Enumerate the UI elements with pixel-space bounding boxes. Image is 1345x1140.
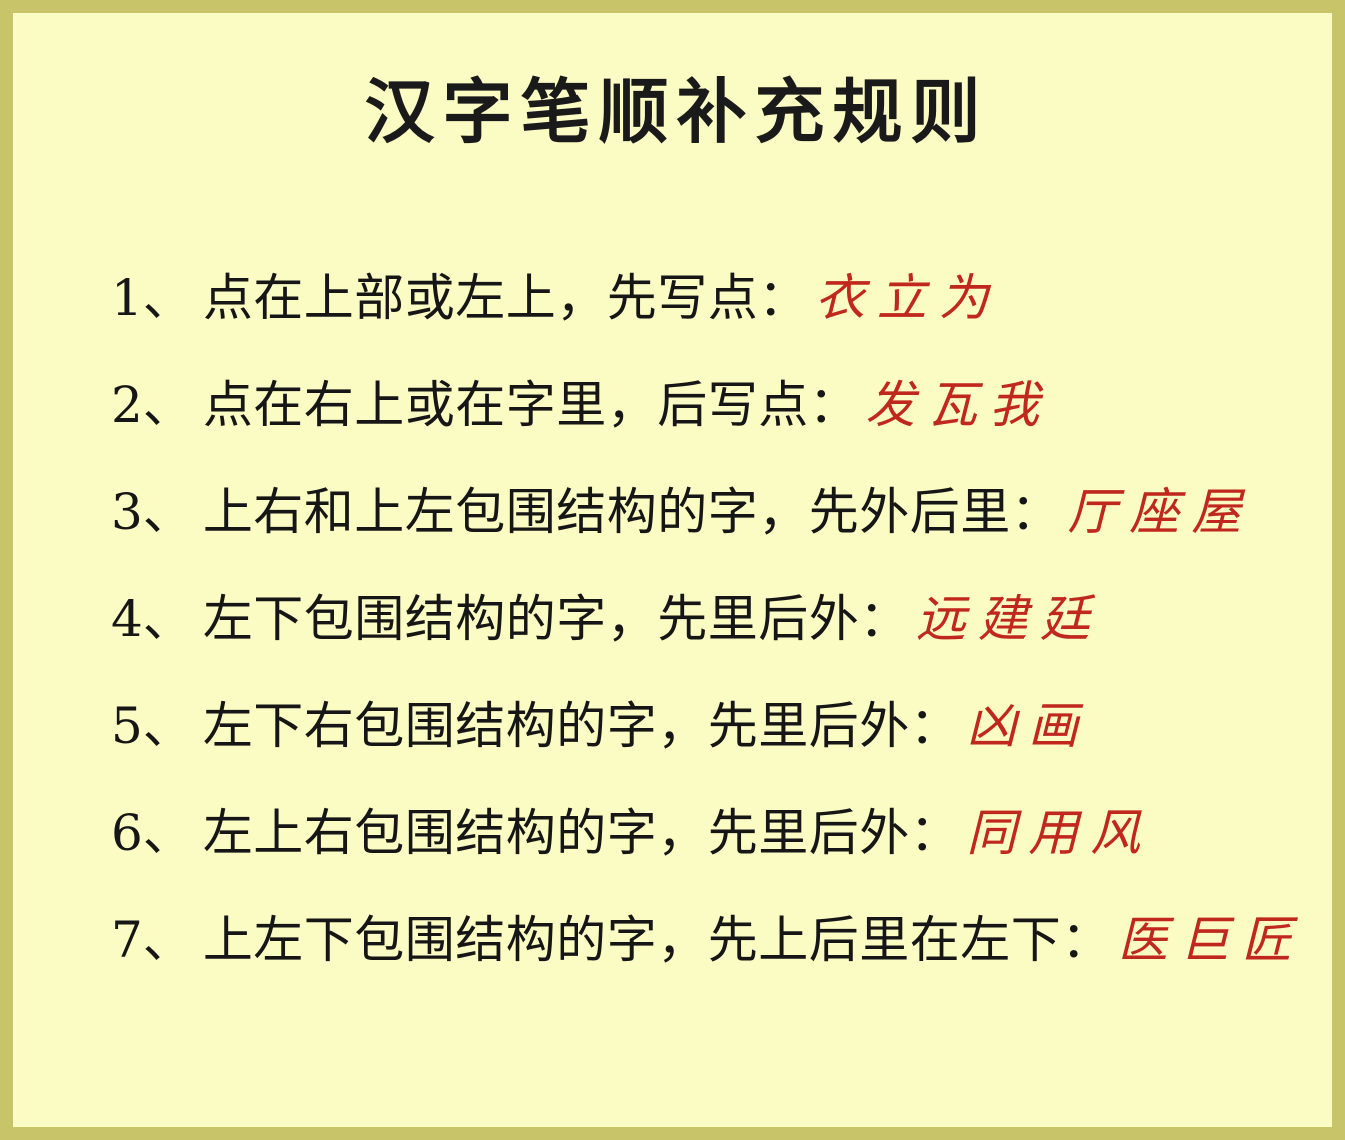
rule-index: 4、 bbox=[111, 566, 203, 673]
rule-text: 左上右包围结构的字，先里后外： bbox=[203, 780, 961, 887]
poster-frame: 汉字笔顺补充规则 1、 点在上部或左上，先写点： 衣立为 2、 点在右上或在字里… bbox=[0, 0, 1345, 1140]
list-item: 5、 左下右包围结构的字，先里后外： 凶画 bbox=[111, 673, 1302, 780]
rule-text: 上左下包围结构的字，先上后里在左下： bbox=[203, 887, 1112, 994]
rule-examples: 远建廷 bbox=[910, 566, 1102, 673]
list-item: 1、 点在上部或左上，先写点： 衣立为 bbox=[111, 245, 1302, 352]
rule-index: 1、 bbox=[111, 245, 203, 352]
rule-examples: 发瓦我 bbox=[859, 352, 1051, 459]
rule-index: 2、 bbox=[111, 352, 203, 459]
list-item: 6、 左上右包围结构的字，先里后外： 同用风 bbox=[111, 780, 1302, 887]
list-item: 3、 上右和上左包围结构的字，先外后里： 厅座屋 bbox=[111, 459, 1302, 566]
rule-text: 左下包围结构的字，先里后外： bbox=[203, 566, 910, 673]
poster-content: 汉字笔顺补充规则 1、 点在上部或左上，先写点： 衣立为 2、 点在右上或在字里… bbox=[13, 13, 1332, 1127]
list-item: 4、 左下包围结构的字，先里后外： 远建廷 bbox=[111, 566, 1302, 673]
rule-index: 5、 bbox=[111, 673, 203, 780]
rule-text: 左下右包围结构的字，先里后外： bbox=[203, 673, 961, 780]
rule-index: 7、 bbox=[111, 887, 203, 994]
rule-examples: 同用风 bbox=[960, 780, 1152, 887]
page-title: 汉字笔顺补充规则 bbox=[13, 68, 1332, 156]
rule-examples: 医巨匠 bbox=[1112, 887, 1304, 994]
rule-index: 3、 bbox=[111, 459, 203, 566]
rule-examples: 衣立为 bbox=[809, 245, 1001, 352]
rule-index: 6、 bbox=[111, 780, 203, 887]
rule-text: 点在右上或在字里，后写点： bbox=[203, 352, 860, 459]
rule-examples: 凶画 bbox=[960, 673, 1090, 780]
rule-examples: 厅座屋 bbox=[1061, 459, 1253, 566]
rule-text: 上右和上左包围结构的字，先外后里： bbox=[203, 459, 1062, 566]
rule-text: 点在上部或左上，先写点： bbox=[203, 245, 809, 352]
list-item: 7、 上左下包围结构的字，先上后里在左下： 医巨匠 bbox=[111, 887, 1302, 994]
rules-list: 1、 点在上部或左上，先写点： 衣立为 2、 点在右上或在字里，后写点： 发瓦我… bbox=[111, 245, 1302, 994]
list-item: 2、 点在右上或在字里，后写点： 发瓦我 bbox=[111, 352, 1302, 459]
